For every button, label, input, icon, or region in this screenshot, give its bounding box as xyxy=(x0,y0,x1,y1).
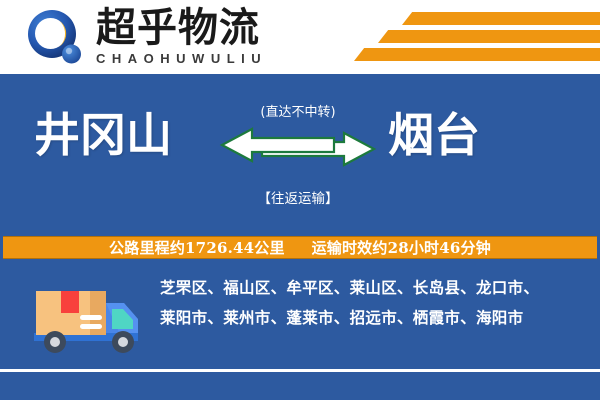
footer-strip xyxy=(0,372,600,400)
distance-text: 公路里程约1726.44公里 xyxy=(109,239,285,257)
logistics-route-banner: 超乎物流 CHAOHUWULIU 井冈山 (直达不中转) 【往返运输】 xyxy=(0,0,600,400)
brand-name-cn: 超乎物流 xyxy=(96,6,326,50)
info-bar-text: 公路里程约1726.44公里 运输时效约28小时46分钟 xyxy=(109,237,491,258)
round-trip-note: 【往返运输】 xyxy=(222,187,374,207)
duration-text: 运输时效约28小时46分钟 xyxy=(312,239,491,257)
speed-stripes-icon xyxy=(340,8,600,66)
banner-header: 超乎物流 CHAOHUWULIU xyxy=(0,0,600,74)
destination-city: 烟台 xyxy=(388,105,480,165)
circle-crescent-logo-icon xyxy=(26,9,84,67)
route-section: 井冈山 (直达不中转) 【往返运输】 烟台 xyxy=(0,75,600,235)
delivery-truck-icon xyxy=(28,273,146,357)
brand-name-en: CHAOHUWULIU xyxy=(96,51,326,66)
coverage-line-1: 芝罘区、福山区、牟平区、莱山区、长岛县、龙口市、 xyxy=(160,273,588,303)
stripe-bottom xyxy=(354,48,600,61)
origin-city: 井冈山 xyxy=(34,105,172,165)
bidirectional-arrow-icon xyxy=(218,125,378,169)
coverage-section: 芝罘区、福山区、牟平区、莱山区、长岛县、龙口市、 莱阳市、莱州市、蓬莱市、招远市… xyxy=(0,259,600,370)
route-info-bar: 公路里程约1726.44公里 运输时效约28小时46分钟 xyxy=(3,236,597,259)
coverage-line-2: 莱阳市、莱州市、蓬莱市、招远市、栖霞市、海阳市 xyxy=(160,303,588,333)
coverage-area-list: 芝罘区、福山区、牟平区、莱山区、长岛县、龙口市、 莱阳市、莱州市、蓬莱市、招远市… xyxy=(160,273,588,333)
route-arrow-group: (直达不中转) 【往返运输】 xyxy=(222,97,374,209)
stripe-middle xyxy=(378,30,600,43)
brand-text: 超乎物流 CHAOHUWULIU xyxy=(96,6,326,68)
direct-shipping-note: (直达不中转) xyxy=(222,101,374,120)
stripe-top xyxy=(402,12,600,25)
